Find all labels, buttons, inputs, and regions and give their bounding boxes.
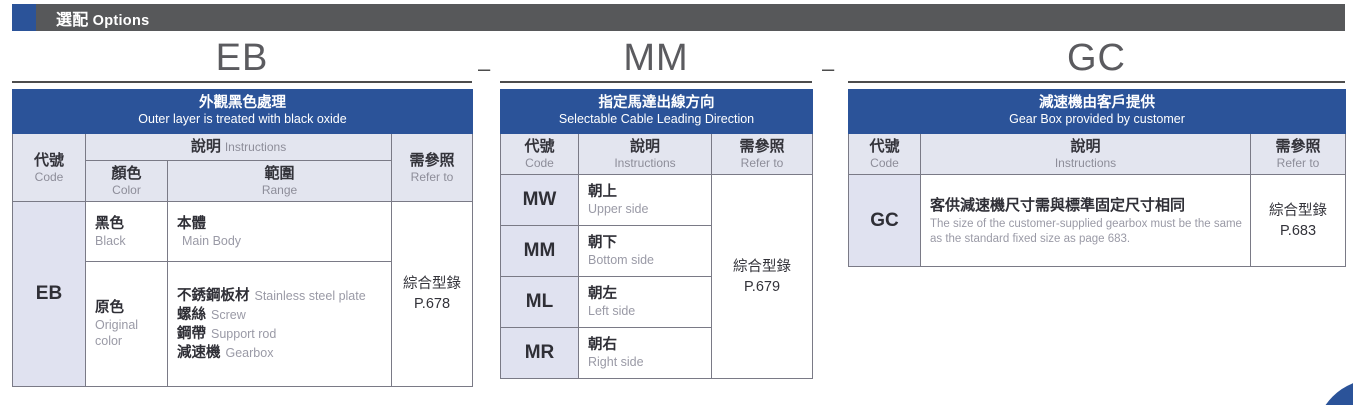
range-item: 不銹鋼板材Stainless steel plate — [177, 286, 383, 305]
option-group-mm: MM 指定馬達出線方向 Selectable Cable Leading Dir… — [500, 36, 812, 379]
banner-title-en: Options — [93, 13, 150, 29]
column-header-code-en: Code — [503, 156, 576, 170]
range-item: 鋼帶Support rod — [177, 324, 383, 343]
refer-zh: 綜合型錄 — [392, 274, 472, 294]
code-cell-mm: MM — [501, 226, 579, 277]
group-rule-gc — [848, 81, 1345, 83]
refer-cell-gc: 綜合型錄 P.683 — [1251, 175, 1346, 267]
table-title-cell-mm: 指定馬達出線方向 Selectable Cable Leading Direct… — [501, 90, 813, 134]
column-header-refer: 需參照 Refer to — [712, 134, 813, 175]
page-corner-decoration — [1307, 375, 1353, 405]
table-header-row-title: 外觀黑色處理 Outer layer is treated with black… — [13, 90, 473, 134]
column-header-instructions: 說明 Instructions — [921, 134, 1251, 175]
column-header-refer-en: Refer to — [714, 156, 810, 170]
column-header-code-en: Code — [15, 170, 83, 184]
instruction-en: Left side — [588, 303, 703, 319]
column-header-code: 代號 Code — [849, 134, 921, 175]
group-title-eb: EB — [12, 36, 472, 80]
instruction-zh: 朝下 — [588, 234, 703, 252]
instruction-en: The size of the customer-supplied gearbo… — [930, 217, 1242, 247]
instruction-cell-ml: 朝左 Left side — [579, 277, 712, 328]
color-zh: 原色 — [95, 299, 159, 317]
refer-cell-mm: 綜合型錄 P.679 — [712, 175, 813, 379]
table-title-zh: 外觀黑色處理 — [15, 95, 470, 112]
table-header-row-1: 代號 Code 說明 Instructions 需參照 Refer to — [501, 134, 813, 175]
table-header-row-title: 減速機由客戶提供 Gear Box provided by customer — [849, 90, 1346, 134]
column-header-refer-en: Refer to — [394, 170, 470, 184]
column-header-code: 代號 Code — [501, 134, 579, 175]
table-row: MW 朝上 Upper side 綜合型錄 P.679 — [501, 175, 813, 226]
column-header-color-zh: 顏色 — [88, 165, 165, 183]
refer-page: P.679 — [712, 277, 812, 297]
code-cell-mw: MW — [501, 175, 579, 226]
range-item-zh: 不銹鋼板材 — [177, 288, 250, 304]
instruction-zh: 朝上 — [588, 183, 703, 201]
range-item-en: Main Body — [182, 233, 383, 249]
column-header-refer: 需參照 Refer to — [1251, 134, 1346, 175]
range-item-en: Support rod — [211, 327, 276, 341]
refer-page: P.678 — [392, 294, 472, 314]
column-header-code: 代號 Code — [13, 134, 86, 202]
instruction-cell-mr: 朝右 Right side — [579, 328, 712, 379]
range-cell-original-parts: 不銹鋼板材Stainless steel plate 螺絲Screw 鋼帶Sup… — [168, 262, 392, 387]
banner-title: 選配Options — [56, 6, 149, 30]
banner-accent-block — [12, 4, 36, 31]
column-header-range-en: Range — [170, 183, 389, 197]
range-item: 螺絲Screw — [177, 305, 383, 324]
color-cell-original: 原色 Original color — [86, 262, 168, 387]
code-cell-gc: GC — [849, 175, 921, 267]
option-group-gc: GC 減速機由客戶提供 Gear Box provided by custome… — [848, 36, 1345, 267]
options-banner: 選配Options — [12, 4, 1345, 31]
column-header-range-zh: 範圍 — [170, 165, 389, 183]
table-title-en: Selectable Cable Leading Direction — [503, 112, 810, 127]
color-en: Original color — [95, 317, 159, 349]
instruction-en: Upper side — [588, 201, 703, 217]
range-cell-main-body: 本體 Main Body — [168, 202, 392, 262]
separator-dash-1: – — [478, 58, 490, 80]
column-header-refer-en: Refer to — [1253, 156, 1343, 170]
table-title-en: Gear Box provided by customer — [851, 112, 1343, 127]
group-title-gc: GC — [848, 36, 1345, 80]
column-header-code-zh: 代號 — [15, 152, 83, 170]
instruction-zh: 朝右 — [588, 336, 703, 354]
column-header-instructions-zh: 說明 — [923, 138, 1248, 156]
instruction-en: Bottom side — [588, 252, 703, 268]
code-cell-ml: ML — [501, 277, 579, 328]
range-item-zh: 本體 — [177, 215, 383, 233]
column-header-code-zh: 代號 — [503, 138, 576, 156]
color-en: Black — [95, 233, 159, 249]
instruction-en: Right side — [588, 354, 703, 370]
table-header-row-title: 指定馬達出線方向 Selectable Cable Leading Direct… — [501, 90, 813, 134]
range-item-zh: 鋼帶 — [177, 326, 206, 342]
column-header-color: 顏色 Color — [86, 161, 168, 202]
column-header-instructions: 說明Instructions — [86, 134, 392, 161]
group-title-mm: MM — [500, 36, 812, 80]
spec-table-mm: 指定馬達出線方向 Selectable Cable Leading Direct… — [500, 89, 813, 379]
spec-table-gc: 減速機由客戶提供 Gear Box provided by customer 代… — [848, 89, 1346, 267]
table-title-cell-gc: 減速機由客戶提供 Gear Box provided by customer — [849, 90, 1346, 134]
table-header-row-1: 代號 Code 說明 Instructions 需參照 Refer to — [849, 134, 1346, 175]
banner-title-zh: 選配 — [56, 12, 89, 29]
range-item-zh: 減速機 — [177, 345, 221, 361]
refer-page: P.683 — [1251, 221, 1345, 241]
table-row: EB 黑色 Black 本體 Main Body 綜合型錄 P.678 — [13, 202, 473, 262]
range-item: 減速機Gearbox — [177, 343, 383, 362]
column-header-code-en: Code — [851, 156, 918, 170]
table-title-cell-eb: 外觀黑色處理 Outer layer is treated with black… — [13, 90, 473, 134]
instruction-zh: 朝左 — [588, 285, 703, 303]
column-header-refer-zh: 需參照 — [1253, 138, 1343, 156]
instruction-cell-mw: 朝上 Upper side — [579, 175, 712, 226]
column-header-color-en: Color — [88, 183, 165, 197]
column-header-instructions-zh: 說明 — [581, 138, 709, 156]
instruction-cell-gc: 客供減速機尺寸需與標準固定尺寸相同 The size of the custom… — [921, 175, 1251, 267]
column-header-refer: 需參照 Refer to — [392, 134, 473, 202]
group-rule-eb — [12, 81, 472, 83]
code-cell-eb: EB — [13, 202, 86, 387]
separator-dash-2: – — [822, 58, 834, 80]
table-title-zh: 減速機由客戶提供 — [851, 95, 1343, 112]
column-header-code-zh: 代號 — [851, 138, 918, 156]
column-header-instructions: 說明 Instructions — [579, 134, 712, 175]
table-header-row-1: 代號 Code 說明Instructions 需參照 Refer to — [13, 134, 473, 161]
code-cell-mr: MR — [501, 328, 579, 379]
refer-cell-eb: 綜合型錄 P.678 — [392, 202, 473, 387]
color-zh: 黑色 — [95, 215, 159, 233]
range-item-zh: 螺絲 — [177, 307, 206, 323]
instruction-cell-mm: 朝下 Bottom side — [579, 226, 712, 277]
column-header-instructions-en: Instructions — [923, 156, 1248, 170]
range-item-en: Stainless steel plate — [255, 289, 366, 303]
option-group-eb: EB 外觀黑色處理 Outer layer is treated with bl… — [12, 36, 472, 387]
column-header-refer-zh: 需參照 — [394, 152, 470, 170]
range-item-en: Gearbox — [226, 346, 274, 360]
range-item: 本體 Main Body — [177, 215, 383, 249]
column-header-instructions-en: Instructions — [581, 156, 709, 170]
range-item-en: Screw — [211, 308, 246, 322]
column-header-instructions-zh: 說明 — [191, 138, 221, 155]
column-header-range: 範圍 Range — [168, 161, 392, 202]
instruction-zh: 客供減速機尺寸需與標準固定尺寸相同 — [930, 195, 1242, 217]
column-header-refer-zh: 需參照 — [714, 138, 810, 156]
table-title-en: Outer layer is treated with black oxide — [15, 112, 470, 127]
table-row: GC 客供減速機尺寸需與標準固定尺寸相同 The size of the cus… — [849, 175, 1346, 267]
group-rule-mm — [500, 81, 812, 83]
refer-zh: 綜合型錄 — [712, 257, 812, 277]
column-header-instructions-en: Instructions — [225, 140, 286, 154]
refer-zh: 綜合型錄 — [1251, 201, 1345, 221]
spec-table-eb: 外觀黑色處理 Outer layer is treated with black… — [12, 89, 473, 387]
table-title-zh: 指定馬達出線方向 — [503, 95, 810, 112]
color-cell-black: 黑色 Black — [86, 202, 168, 262]
corner-shape — [1315, 379, 1353, 405]
